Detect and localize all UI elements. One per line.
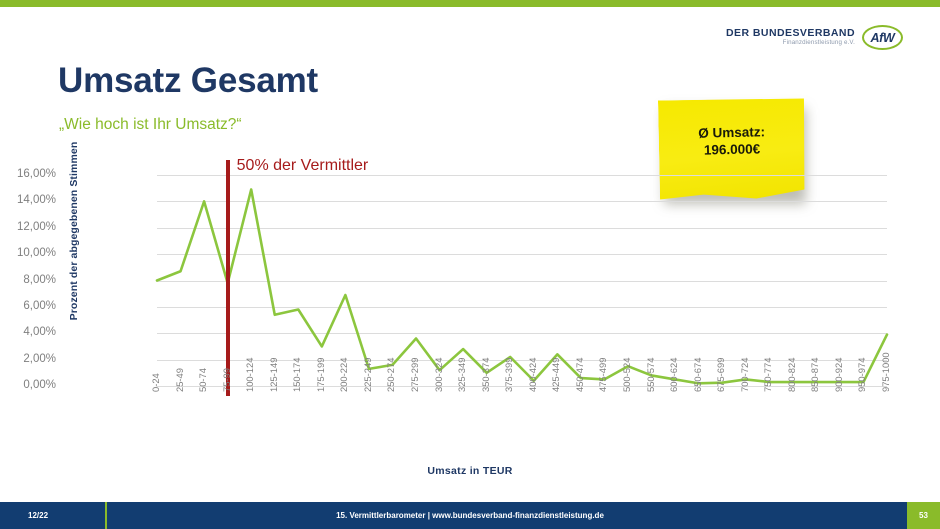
x-tick-label: 700-724	[739, 358, 750, 392]
x-tick-label: 650-674	[692, 358, 703, 392]
chart-plot-area	[0, 0, 940, 500]
x-tick-label: 25-49	[174, 368, 185, 392]
x-tick-label: 225-249	[362, 358, 373, 392]
footer-slide-number: 53	[907, 502, 940, 529]
x-tick-label: 475-499	[597, 358, 608, 392]
x-tick-label: 75-99	[221, 368, 232, 392]
x-tick-label: 375-399	[503, 358, 514, 392]
median-marker-label: 50% der Vermittler	[237, 157, 369, 175]
x-tick-label: 100-124	[244, 358, 255, 392]
x-tick-label: 50-74	[197, 368, 208, 392]
x-tick-label: 275-299	[409, 358, 420, 392]
chart: Prozent der abgegebenen Stimmen 0,00%2,0…	[0, 0, 940, 500]
x-tick-label: 500-524	[621, 358, 632, 392]
x-tick-label: 175-199	[315, 358, 326, 392]
x-tick-label: 200-224	[338, 358, 349, 392]
x-tick-label: 0-24	[150, 373, 161, 392]
x-tick-label: 400-424	[527, 358, 538, 392]
x-tick-label: 975-1000	[880, 352, 891, 392]
x-tick-label: 250-274	[385, 358, 396, 392]
footer-bar: 15. Vermittlerbarometer | www.bundesverb…	[0, 502, 940, 529]
slide-canvas: DER BUNDESVERBAND Finanzdienstleistung e…	[0, 0, 940, 529]
x-tick-label: 900-924	[833, 358, 844, 392]
x-tick-label: 600-624	[668, 358, 679, 392]
x-tick-label: 300-324	[433, 358, 444, 392]
footer-center-text: 15. Vermittlerbarometer | www.bundesverb…	[0, 502, 940, 529]
x-tick-label: 800-824	[786, 358, 797, 392]
x-tick-label: 750-774	[762, 358, 773, 392]
x-tick-label: 550-574	[645, 358, 656, 392]
x-axis-title: Umsatz in TEUR	[0, 465, 940, 477]
median-marker-line	[226, 160, 230, 396]
x-tick-label: 850-874	[809, 358, 820, 392]
x-tick-label: 325-349	[456, 358, 467, 392]
x-tick-label: 125-149	[268, 358, 279, 392]
x-tick-label: 350-374	[480, 358, 491, 392]
x-tick-label: 950-974	[856, 358, 867, 392]
x-tick-label: 675-699	[715, 358, 726, 392]
x-tick-label: 450-474	[574, 358, 585, 392]
x-tick-label: 150-174	[291, 358, 302, 392]
x-tick-label: 425-449	[550, 358, 561, 392]
footer-page-indicator: 12/22	[28, 502, 48, 529]
chart-series-line	[157, 190, 887, 384]
footer-divider	[105, 502, 107, 529]
